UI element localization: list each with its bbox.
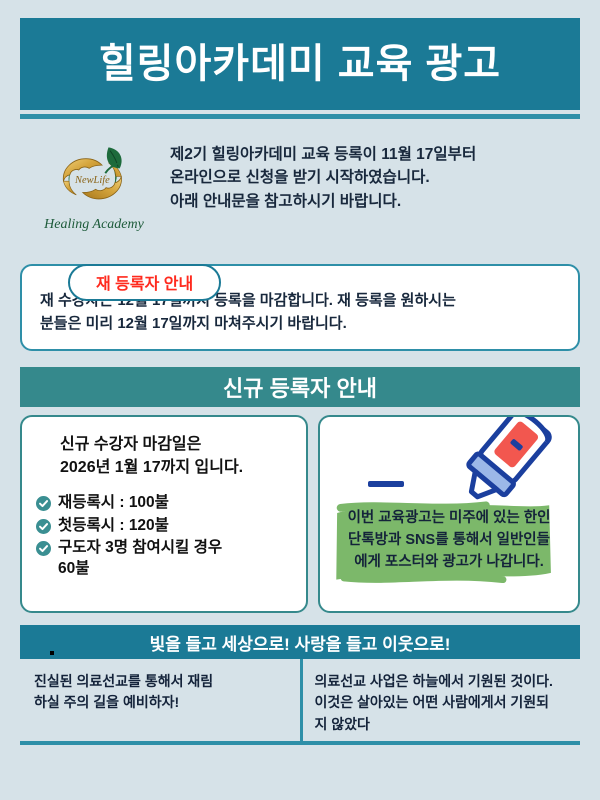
poster-root: 힐링아카데미 교육 광고: [0, 0, 600, 800]
pen-ink-stroke: [368, 481, 404, 487]
list-item: 첫등록시 : 120불: [36, 516, 294, 536]
returning-registrant-section: 재 등록자 안내 재 수강자는 12월 17일까지 등록을 마감합니다. 재 등…: [20, 264, 580, 351]
footer-left-column: 진실된 의료선교를 통해서 재림 하실 주의 길을 예비하자!: [20, 659, 300, 741]
promotion-line-1: 이번 교육광고는 미주에 있는 한인: [338, 507, 560, 529]
intro-line-3: 아래 안내문을 참고하시기 바랍니다.: [170, 190, 580, 213]
pen-illustration-wrap: [320, 417, 578, 501]
footer-section: 진실된 의료선교를 통해서 재림 하실 주의 길을 예비하자! 의료선교 사업은…: [20, 659, 580, 745]
promotion-text: 이번 교육광고는 미주에 있는 한인 단톡방과 SNS를 통해서 일반인들 에게…: [338, 507, 560, 573]
list-item: 재등록시 : 100불: [36, 493, 294, 513]
intro-text: 제2기 힐링아카데미 교육 등록이 11월 17일부터 온라인으로 신청을 받기…: [170, 139, 580, 213]
slogan-banner: 빛을 들고 세상으로! 사랑을 들고 이웃으로!: [20, 625, 580, 659]
pricing-box: 신규 수강자 마감일은 2026년 1월 17까지 입니다. 재등록시 : 10…: [20, 415, 308, 613]
pricing-list: 재등록시 : 100불 첫등록시 : 120불 구도자 3명 참여시킬 경우 6…: [36, 493, 294, 579]
logo-block: NewLife Healing Academy: [26, 139, 162, 233]
footer-right-line-2: 이것은 살아있는 어떤 사람에게서 기원되: [315, 692, 571, 713]
slogan-text: 빛을 들고 세상으로! 사랑을 들고 이웃으로!: [150, 630, 451, 655]
title-banner: 힐링아카데미 교육 광고: [20, 18, 580, 110]
slogan-dot-marker: [50, 651, 54, 655]
footer-right-column: 의료선교 사업은 하늘에서 기원된 것이다. 이것은 살아있는 어떤 사람에게서…: [300, 659, 581, 741]
check-circle-icon: [36, 496, 51, 511]
deadline-line-2: 2026년 1월 17까지 입니다.: [60, 456, 294, 479]
deadline-line-1: 신규 수강자 마감일은: [60, 433, 294, 456]
logo-script-name: NewLife: [74, 175, 110, 186]
deadline-headline: 신규 수강자 마감일은 2026년 1월 17까지 입니다.: [36, 433, 294, 479]
footer-left-line-1: 진실된 의료선교를 통해서 재림: [34, 671, 290, 692]
new-registrant-columns: 신규 수강자 마감일은 2026년 1월 17까지 입니다. 재등록시 : 10…: [20, 415, 580, 613]
footer-left-line-2: 하실 주의 길을 예비하자!: [34, 692, 290, 713]
intro-line-1: 제2기 힐링아카데미 교육 등록이 11월 17일부터: [170, 143, 580, 166]
newlife-logo-icon: NewLife: [44, 141, 144, 215]
pricing-item-label: 첫등록시 : 120불: [58, 516, 169, 536]
intro-section: NewLife Healing Academy 제2기 힐링아카데미 교육 등록…: [20, 133, 580, 248]
new-registrant-header-label: 신규 등록자 안내: [223, 371, 377, 403]
check-circle-icon: [36, 519, 51, 534]
new-registrant-header-bar: 신규 등록자 안내: [20, 367, 580, 407]
intro-line-2: 온라인으로 신청을 받기 시작하였습니다.: [170, 166, 580, 189]
title-underline: [20, 114, 580, 119]
promotion-highlight-wrap: 이번 교육광고는 미주에 있는 한인 단톡방과 SNS를 통해서 일반인들 에게…: [332, 501, 566, 583]
poster-title: 힐링아카데미 교육 광고: [99, 44, 501, 84]
logo-caption: Healing Academy: [44, 217, 144, 233]
list-item: 구도자 3명 참여시킬 경우 60불: [36, 538, 294, 579]
footer-right-line-3: 지 않았다: [315, 714, 571, 735]
promotion-line-3: 에게 포스터와 광고가 나갑니다.: [338, 551, 560, 573]
returning-line-2: 분들은 미리 12월 17일까지 마쳐주시기 바랍니다.: [40, 313, 560, 336]
pricing-item-label: 재등록시 : 100불: [58, 493, 169, 513]
footer-right-line-1: 의료선교 사업은 하늘에서 기원된 것이다.: [315, 671, 571, 692]
check-circle-icon: [36, 541, 51, 556]
promotion-line-2: 단톡방과 SNS를 통해서 일반인들: [338, 529, 560, 551]
pricing-item-label: 구도자 3명 참여시킬 경우 60불: [58, 538, 222, 579]
highlighter-pen-icon: [442, 415, 560, 513]
promotion-box: 이번 교육광고는 미주에 있는 한인 단톡방과 SNS를 통해서 일반인들 에게…: [318, 415, 580, 613]
returning-registrant-badge: 재 등록자 안내: [68, 264, 221, 301]
